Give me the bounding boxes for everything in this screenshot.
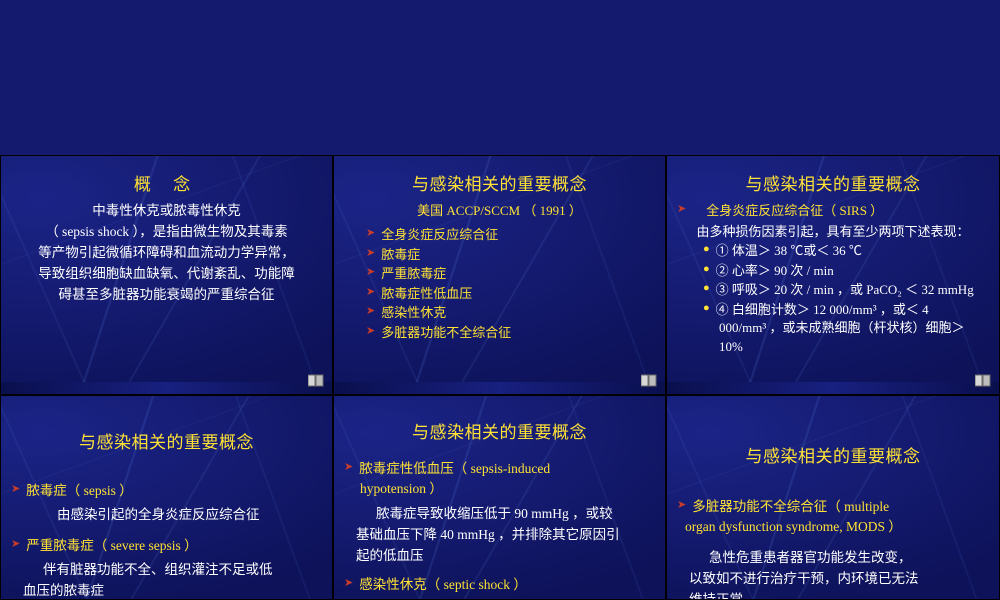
slide-5-entry-1-desc-2: 基础血压下降 40 mmHg ，并排除其它原因引 — [344, 525, 655, 546]
slide-6-term-line1: 多脏器功能不全综合征（ multiple — [692, 497, 989, 517]
slide-6-desc-2: 以致如不进行治疗干预，内环境已无法 — [677, 569, 989, 590]
deck-top-band — [0, 0, 1000, 155]
slide-6-entry: ➤ 多脏器功能不全综合征（ multiple — [677, 497, 989, 517]
arrow-marker-icon: ➤ — [366, 245, 375, 262]
slide-6-desc-1: 急性危重患者器官功能发生改变， — [677, 548, 989, 569]
slide-4-entry-1-term: 脓毒症（ sepsis ） — [26, 481, 322, 501]
slide-3-intro: 由多种损伤因素引起，具有至少两项下述表现： — [677, 223, 989, 242]
bullet-dot-icon: ● — [703, 300, 710, 318]
slide-3-item-1: ● ① 体温＞ 38 ℃或＜ 36 ℃ — [703, 241, 989, 261]
slide-1-line-1: 中毒性休克或脓毒性休克 — [11, 201, 322, 222]
slide-3-title: 与感染相关的重要概念 — [677, 170, 989, 195]
slide-2-bullet-5-label: 感染性休克 — [381, 303, 655, 323]
slide-3-lead: ➤ 全身炎症反应综合征（ SIRS ） — [677, 201, 989, 221]
slide-1-body: 中毒性休克或脓毒性休克 （ sepsis shock ），是指由微生物及其毒素 … — [11, 201, 322, 306]
slide-1-line-4: 导致组织细胞缺血缺氧、代谢紊乱、功能障 — [11, 264, 322, 285]
book-icon — [308, 374, 324, 388]
slide-2[interactable]: 与感染相关的重要概念 美国 ACCP/SCCM （ 1991 ） ➤ 全身炎症反… — [333, 155, 666, 395]
arrow-marker-icon: ➤ — [366, 323, 375, 340]
slide-1-line-5: 碍甚至多脏器功能衰竭的严重综合征 — [11, 285, 322, 306]
slide-2-bullet-6-label: 多脏器功能不全综合征 — [381, 323, 655, 343]
slide-6-term-line2: organ dysfunction syndrome, MODS ） — [677, 517, 989, 538]
slide-4-entry-2-desc: 伴有脏器功能不全、组织灌注不足或低 — [11, 560, 322, 581]
book-icon — [975, 374, 991, 388]
arrow-marker-icon: ➤ — [366, 284, 375, 301]
slide-2-title: 与感染相关的重要概念 — [344, 170, 655, 195]
slide-3-item-2: ● ② 心率＞ 90 次 / min — [703, 261, 989, 281]
bullet-dot-icon: ● — [703, 280, 710, 298]
slide-3[interactable]: 与感染相关的重要概念 ➤ 全身炎症反应综合征（ SIRS ） 由多种损伤因素引起… — [666, 155, 1000, 395]
slide-2-bullet-6: ➤ 多脏器功能不全综合征 — [366, 323, 655, 343]
slide-3-item-3: ● ③ 呼吸＞ 20 次 / min ，或 PaCO₂ ＜ 32 mmHg — [703, 280, 989, 300]
slide-deck: 概 念 中毒性休克或脓毒性休克 （ sepsis shock ），是指由微生物及… — [0, 0, 1000, 600]
arrow-marker-icon: ➤ — [366, 264, 375, 281]
slide-1[interactable]: 概 念 中毒性休克或脓毒性休克 （ sepsis shock ），是指由微生物及… — [0, 155, 333, 395]
slide-3-footer-bar — [667, 382, 999, 394]
arrow-marker-icon: ➤ — [366, 303, 375, 320]
slide-3-item-4: ● ④ 白细胞计数＞ 12 000/mm³ ，或＜ 4 — [703, 300, 989, 320]
slide-5-entry-2-term: 感染性休克（ septic shock ） — [359, 575, 655, 595]
arrow-marker-icon: ➤ — [677, 497, 686, 514]
slide-1-line-3: 等产物引起微循环障碍和血流动力学异常， — [11, 243, 322, 264]
slide-5-entry-1-term-line2: hypotension ） — [344, 479, 655, 500]
arrow-marker-icon: ➤ — [11, 536, 20, 553]
slide-3-item-4-cont: 000/mm³ ，或未成熟细胞（杆状核）细胞＞ 10% — [703, 319, 989, 357]
slide-6-title: 与感染相关的重要概念 — [677, 442, 989, 467]
slide-3-item-4-label: ④ 白细胞计数＞ 12 000/mm³ ，或＜ 4 — [716, 300, 989, 320]
slide-5-entry-1: ➤ 脓毒症性低血压（ sepsis-induced — [344, 459, 655, 479]
slide-3-item-3-label: ③ 呼吸＞ 20 次 / min ，或 PaCO₂ ＜ 32 mmHg — [716, 280, 989, 300]
slide-5-entry-1-term-line1: 脓毒症性低血压（ sepsis-induced — [359, 459, 655, 479]
slide-2-subtitle: 美国 ACCP/SCCM （ 1991 ） — [344, 201, 655, 221]
arrow-marker-icon: ➤ — [366, 225, 375, 242]
slide-6-desc-3: 维持正常 — [677, 590, 989, 600]
bullet-dot-icon: ● — [703, 241, 710, 259]
slide-2-bullet-2: ➤ 脓毒症 — [366, 245, 655, 265]
arrow-marker-icon: ➤ — [344, 575, 353, 592]
slide-6[interactable]: 与感染相关的重要概念 ➤ 多脏器功能不全综合征（ multiple organ … — [666, 395, 1000, 600]
slide-4-entry-2: ➤ 严重脓毒症（ severe sepsis ） — [11, 536, 322, 556]
slide-1-line-2: （ sepsis shock ），是指由微生物及其毒素 — [11, 222, 322, 243]
slide-4-entry-1-desc: 由感染引起的全身炎症反应综合征 — [11, 505, 322, 526]
slide-2-bullet-2-label: 脓毒症 — [381, 245, 655, 265]
slide-5-entry-2: ➤ 感染性休克（ septic shock ） — [344, 575, 655, 595]
slide-5-entry-1-desc-3: 起的低血压 — [344, 546, 655, 567]
slide-4-title: 与感染相关的重要概念 — [11, 428, 322, 453]
slide-1-footer-bar — [1, 382, 332, 394]
slide-4-entry-2-desc-cont: 血压的脓毒症 — [11, 581, 322, 600]
slide-1-title: 概 念 — [11, 170, 322, 195]
slide-2-bullet-4-label: 脓毒症性低血压 — [381, 284, 655, 304]
slide-2-bullet-1-label: 全身炎症反应综合征 — [381, 225, 655, 245]
slide-2-bullet-5: ➤ 感染性休克 — [366, 303, 655, 323]
slide-4-entry-2-term: 严重脓毒症（ severe sepsis ） — [26, 536, 322, 556]
slide-5-title: 与感染相关的重要概念 — [344, 418, 655, 443]
slide-4[interactable]: 与感染相关的重要概念 ➤ 脓毒症（ sepsis ） 由感染引起的全身炎症反应综… — [0, 395, 333, 600]
slide-3-item-2-label: ② 心率＞ 90 次 / min — [716, 261, 989, 281]
slide-3-lead-label: 全身炎症反应综合征（ SIRS ） — [692, 201, 989, 221]
slide-2-bullet-3-label: 严重脓毒症 — [381, 264, 655, 284]
arrow-marker-icon: ➤ — [677, 201, 686, 218]
slide-5-entry-1-desc-1: 脓毒症导致收缩压低于 90 mmHg ，或较 — [344, 504, 655, 525]
bullet-dot-icon: ● — [703, 261, 710, 279]
slide-5[interactable]: 与感染相关的重要概念 ➤ 脓毒症性低血压（ sepsis-induced hyp… — [333, 395, 666, 600]
slide-2-footer-bar — [334, 382, 665, 394]
slide-2-bullet-1: ➤ 全身炎症反应综合征 — [366, 225, 655, 245]
arrow-marker-icon: ➤ — [11, 481, 20, 498]
slide-4-entry-1: ➤ 脓毒症（ sepsis ） — [11, 481, 322, 501]
slide-2-bullet-3: ➤ 严重脓毒症 — [366, 264, 655, 284]
slide-2-bullet-4: ➤ 脓毒症性低血压 — [366, 284, 655, 304]
slide-3-item-1-label: ① 体温＞ 38 ℃或＜ 36 ℃ — [716, 241, 989, 261]
arrow-marker-icon: ➤ — [344, 459, 353, 476]
book-icon — [641, 374, 657, 388]
